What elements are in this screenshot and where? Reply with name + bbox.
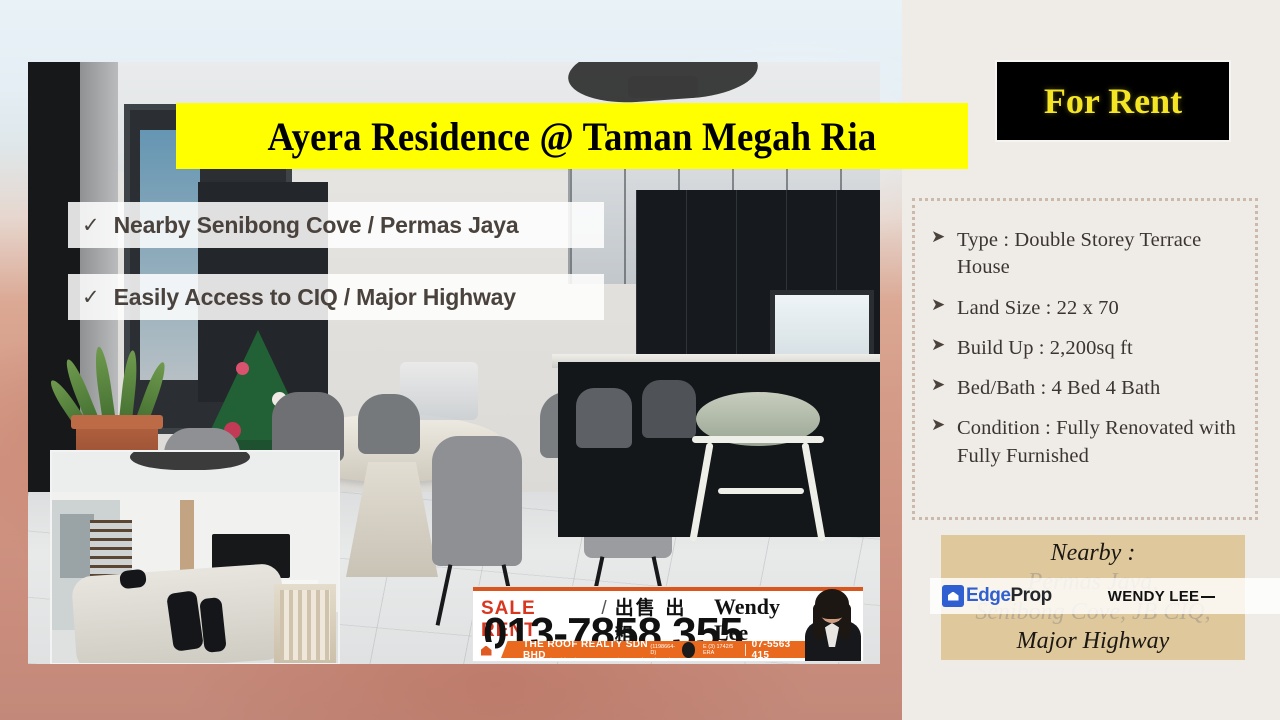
agency-badge-sub: E (3) 1742/5 ERA [703,644,739,656]
nearby-line-3: Major Highway [1017,627,1170,656]
for-rent-label: For Rent [1044,80,1182,122]
house-icon [942,585,964,607]
agency-seal-icon [682,642,695,658]
agent-hair-top [815,589,849,619]
agency-registration: (1198664-D) [650,644,675,656]
detail-row: ➤ Build Up : 2,200sq ft [931,335,1239,362]
property-details-box: ➤ Type : Double Storey Terrace House ➤ L… [912,198,1258,520]
agent-contact-banner: SALE RENT / 出售 出租 Wendy Lee REN 30008 01… [472,586,864,662]
arrow-bullet-icon: ➤ [931,335,957,362]
flyer-canvas: Ayera Residence @ Taman Megah Ria ✓ Near… [0,0,1280,720]
agent-photo [803,587,863,662]
nearby-heading: Nearby : [1051,539,1136,568]
check-icon: ✓ [82,215,100,236]
property-title-banner: Ayera Residence @ Taman Megah Ria [176,103,968,169]
feature-bar-2: ✓ Easily Access to CIQ / Major Highway [68,274,604,320]
tree-ornament [236,362,249,375]
arrow-bullet-icon: ➤ [931,227,957,282]
strip-divider [745,644,746,656]
edgeprop-watermark-band: Edge Prop WENDY LEE [930,578,1280,614]
dining-chair [358,394,420,454]
detail-row: ➤ Type : Double Storey Terrace House [931,227,1239,282]
detail-text: Condition : Fully Renovated with Fully F… [957,415,1239,470]
arrow-bullet-icon: ➤ [931,375,957,402]
inset-play-yard [274,584,336,664]
ceiling-fan-hub-icon [628,76,698,98]
detail-row: ➤ Land Size : 22 x 70 [931,295,1239,322]
watermark-agent-name: WENDY LEE [1108,588,1200,605]
detail-row: ➤ Bed/Bath : 4 Bed 4 Bath [931,375,1239,402]
check-icon: ✓ [82,287,100,308]
feature-text-2: Easily Access to CIQ / Major Highway [114,284,516,311]
for-rent-badge: For Rent [997,62,1229,140]
feature-bar-1: ✓ Nearby Senibong Cove / Permas Jaya [68,202,604,248]
agency-telephone: 07-5563 415 [752,639,801,661]
edgeprop-logo: Edge Prop [942,585,1052,607]
detail-text: Land Size : 22 x 70 [957,295,1119,322]
bar-stool [576,388,632,448]
property-title-text: Ayera Residence @ Taman Megah Ria [268,113,877,160]
edgeprop-brand-prefix: Edge [966,585,1010,607]
arrow-bullet-icon: ➤ [931,415,957,470]
agency-logo-icon [477,642,495,659]
detail-row: ➤ Condition : Fully Renovated with Fully… [931,415,1239,470]
detail-text: Build Up : 2,200sq ft [957,335,1133,362]
baby-swing [688,392,828,542]
swing-frame-bar [718,488,804,494]
arrow-bullet-icon: ➤ [931,295,957,322]
edgeprop-brand-suffix: Prop [1010,585,1051,607]
detail-text: Type : Double Storey Terrace House [957,227,1239,282]
detail-text: Bed/Bath : 4 Bed 4 Bath [957,375,1160,402]
dining-chair [432,436,522,566]
swing-frame-leg [689,442,713,542]
swing-frame-leg [801,442,825,542]
feature-text-1: Nearby Senibong Cove / Permas Jaya [114,212,519,239]
inset-living-room-photo [50,450,340,664]
agency-strip: THE ROOF REALTY SDN BHD (1198664-D) E (3… [501,641,831,658]
agency-address: NO. 8-02, Jalan Austin Heights 8/2, Tama… [509,657,676,662]
